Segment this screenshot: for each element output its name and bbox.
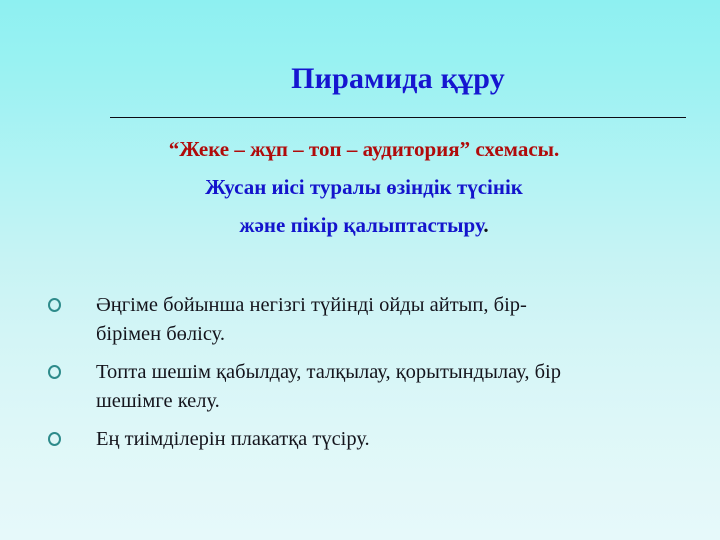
subheading-line-3-text: және пікір қалыптастыру <box>239 213 483 237</box>
subheading-line-3: және пікір қалыптастыру. <box>44 206 684 244</box>
list-item: Ең тиімділерін плакатқа түсіру. <box>40 425 690 454</box>
bullet-list: Әңгіме бойынша негізгі түйінді ойды айты… <box>40 291 690 454</box>
title-block: Пирамида құру <box>110 60 686 98</box>
list-item-label: Топта шешім қабылдау, талқылау, қорытынд… <box>96 358 576 416</box>
list-item: Әңгіме бойынша негізгі түйінді ойды айты… <box>40 291 690 349</box>
subheading-line-3-period: . <box>483 213 488 237</box>
hollow-circle-bullet-icon <box>48 432 61 446</box>
title-underline-rule <box>110 117 686 118</box>
list-item: Топта шешім қабылдау, талқылау, қорытынд… <box>40 358 690 416</box>
presentation-slide: Пирамида құру “Жеке – жұп – топ – аудито… <box>0 0 720 540</box>
list-item-label: Әңгіме бойынша негізгі түйінді ойды айты… <box>96 291 576 349</box>
subheading-block: “Жеке – жұп – топ – аудитория” схемасы. … <box>44 130 684 244</box>
hollow-circle-bullet-icon <box>48 365 61 379</box>
list-item-label: Ең тиімділерін плакатқа түсіру. <box>96 425 576 454</box>
hollow-circle-bullet-icon <box>48 298 61 312</box>
subheading-line-2: Жусан иісі туралы өзіндік түсінік <box>44 168 684 206</box>
subheading-line-1: “Жеке – жұп – топ – аудитория” схемасы. <box>44 130 684 168</box>
page-title: Пирамида құру <box>110 60 686 98</box>
